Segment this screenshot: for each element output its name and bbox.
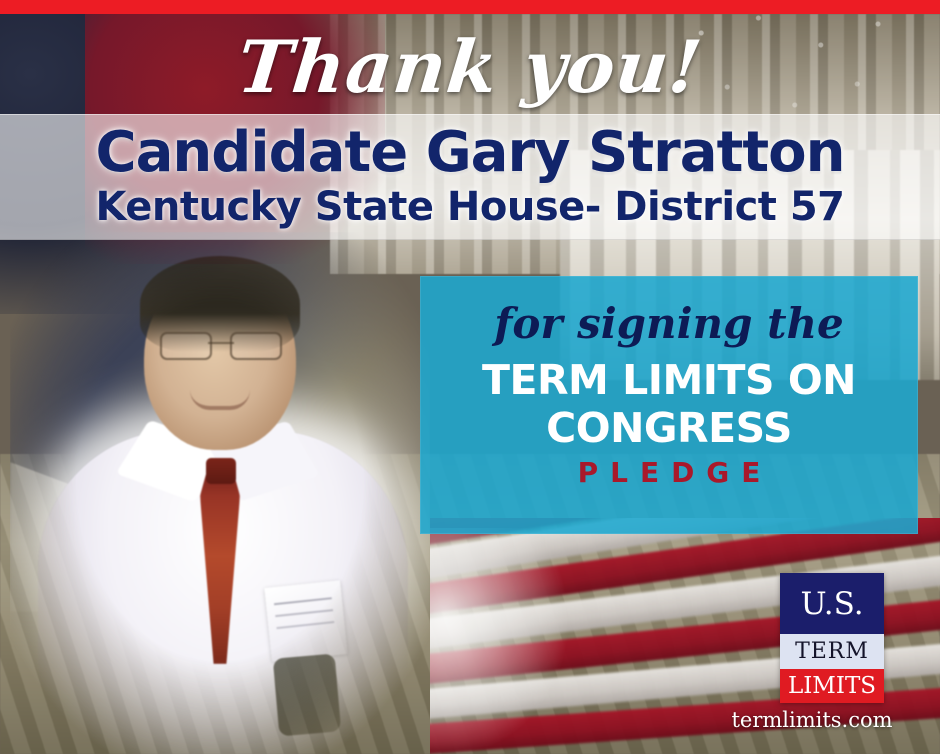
pledge-panel: for signing the TERM LIMITS ON CONGRESS … [420, 276, 918, 534]
us-term-limits-logo: U.S. TERM LIMITS [780, 573, 884, 703]
candidate-photo [10, 232, 430, 754]
pledge-headline-line1: TERM LIMITS ON [420, 356, 918, 404]
logo-line-us: U.S. [780, 573, 884, 634]
page-subtitle: Kentucky State House- District 57 [0, 182, 940, 232]
name-badge [264, 580, 347, 662]
flag-highlight [430, 528, 570, 754]
thank-you-graphic: Thank you! Candidate Gary Stratton Kentu… [0, 0, 940, 754]
pledge-word: PLEDGE [420, 456, 918, 490]
page-title: Candidate Gary Stratton [0, 118, 940, 188]
pledge-headline: TERM LIMITS ON CONGRESS [420, 356, 918, 452]
glasses-icon [160, 332, 282, 356]
thank-you-heading: Thank you! [0, 24, 940, 110]
logo-line-limits: LIMITS [780, 669, 884, 703]
pledge-script-line: for signing the [420, 298, 918, 350]
logo-line-term: TERM [780, 634, 884, 669]
top-red-bar [0, 0, 940, 14]
website-url: termlimits.com [700, 708, 924, 732]
pledge-headline-line2: CONGRESS [420, 404, 918, 452]
